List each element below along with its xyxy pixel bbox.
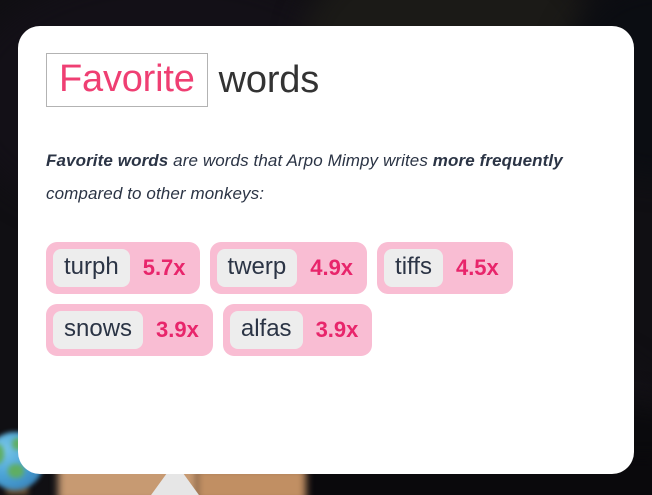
badge-word-label: turph [53, 249, 130, 287]
badge-word-label: twerp [217, 249, 298, 287]
page-title: Favorite words [46, 53, 319, 107]
badge-multiplier: 3.9x [316, 319, 359, 341]
word-badge[interactable]: tiffs 4.5x [377, 242, 513, 294]
word-badge[interactable]: twerp 4.9x [210, 242, 368, 294]
badge-multiplier: 5.7x [143, 257, 186, 279]
badge-multiplier: 3.9x [156, 319, 199, 341]
favorite-words-list: turph 5.7x twerp 4.9x tiffs 4.5x snows 3… [46, 242, 606, 366]
page-title-rest: words [219, 59, 319, 102]
badge-word-label: alfas [230, 311, 303, 349]
badge-multiplier: 4.9x [310, 257, 353, 279]
subtitle-emphasis: more frequently [433, 151, 563, 170]
word-badge[interactable]: alfas 3.9x [223, 304, 373, 356]
badge-word-label: tiffs [384, 249, 443, 287]
badge-word-label: snows [53, 311, 143, 349]
word-badge[interactable]: snows 3.9x [46, 304, 213, 356]
highlighted-term-box: Favorite [46, 53, 208, 107]
subtitle-description: Favorite words are words that Arpo Mimpy… [46, 144, 604, 210]
favorite-words-card: Favorite words Favorite words are words … [18, 26, 634, 474]
subtitle-mid: are words that Arpo Mimpy writes [168, 151, 432, 170]
subtitle-lead: Favorite words [46, 151, 168, 170]
badge-multiplier: 4.5x [456, 257, 499, 279]
badge-row: turph 5.7x twerp 4.9x tiffs 4.5x [46, 242, 606, 294]
page-title-highlight: Favorite [59, 58, 195, 100]
badge-row: snows 3.9x alfas 3.9x [46, 304, 606, 356]
word-badge[interactable]: turph 5.7x [46, 242, 200, 294]
subtitle-tail: compared to other monkeys: [46, 184, 264, 203]
